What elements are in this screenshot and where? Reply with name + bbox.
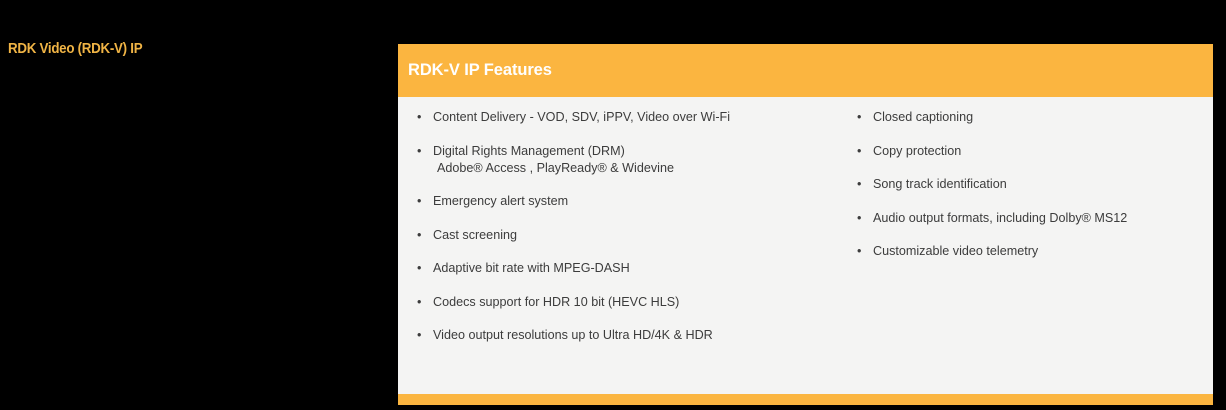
feature-item-label: Emergency alert system [433,194,568,208]
feature-item-label: Adaptive bit rate with MPEG-DASH [433,261,630,275]
feature-list-item: •Content Delivery - VOD, SDV, iPPV, Vide… [416,109,820,126]
bullet-icon: • [417,327,421,344]
feature-list-item: •Cast screening [416,227,820,244]
feature-list-item: •Digital Rights Management (DRM)Adobe® A… [416,143,820,177]
bullet-icon: • [417,294,421,311]
features-panel: RDK-V IP Features •Content Delivery - VO… [398,44,1213,405]
feature-item-label: Digital Rights Management (DRM) [433,144,625,158]
feature-list-item: •Adaptive bit rate with MPEG-DASH [416,260,820,277]
bullet-icon: • [417,109,421,126]
bullet-icon: • [417,260,421,277]
feature-list-item: •Copy protection [856,143,1213,160]
feature-list-item: •Song track identification [856,176,1213,193]
feature-item-subline: Adobe® Access , PlayReady® & Widevine [433,160,820,177]
feature-item-label: Song track identification [873,177,1007,191]
panel-footer-accent-bar [398,394,1213,405]
panel-header: RDK-V IP Features [398,44,1213,97]
feature-list-item: •Customizable video telemetry [856,243,1213,260]
feature-item-label: Audio output formats, including Dolby® M… [873,211,1127,225]
feature-list-item: •Closed captioning [856,109,1213,126]
feature-item-label: Content Delivery - VOD, SDV, iPPV, Video… [433,110,730,124]
bullet-icon: • [857,143,861,160]
feature-item-label: Cast screening [433,228,517,242]
bullet-icon: • [857,109,861,126]
bullet-icon: • [417,227,421,244]
bullet-icon: • [857,243,861,260]
slide-title: RDK Video (RDK-V) IP [8,41,142,57]
feature-column-right: •Closed captioning•Copy protection•Song … [820,109,1213,394]
bullet-icon: • [857,176,861,193]
feature-item-label: Video output resolutions up to Ultra HD/… [433,328,713,342]
feature-list-item: •Audio output formats, including Dolby® … [856,210,1213,227]
panel-header-title: RDK-V IP Features [408,61,552,80]
panel-body: •Content Delivery - VOD, SDV, iPPV, Vide… [398,97,1213,394]
feature-list-item: •Emergency alert system [416,193,820,210]
bullet-icon: • [857,210,861,227]
feature-list-item: •Codecs support for HDR 10 bit (HEVC HLS… [416,294,820,311]
feature-item-label: Closed captioning [873,110,973,124]
bullet-icon: • [417,193,421,210]
bullet-icon: • [417,143,421,160]
feature-column-left: •Content Delivery - VOD, SDV, iPPV, Vide… [398,109,820,394]
feature-item-label: Customizable video telemetry [873,244,1038,258]
feature-item-label: Codecs support for HDR 10 bit (HEVC HLS) [433,295,679,309]
feature-list-item: •Video output resolutions up to Ultra HD… [416,327,820,344]
feature-item-label: Copy protection [873,144,961,158]
